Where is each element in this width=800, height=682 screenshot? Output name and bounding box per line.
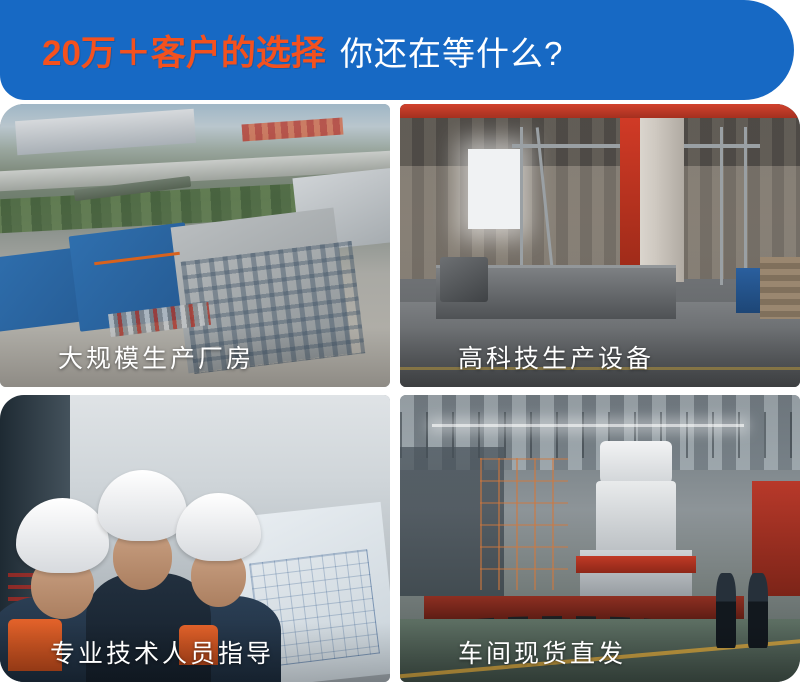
gallery-item-high-tech-equipment[interactable]: 高科技生产设备 xyxy=(400,104,800,387)
promo-banner-accent-text: 20万＋客户的选择 xyxy=(42,25,326,76)
gallery-caption-large-scale-workshop: 大规模生产厂房 xyxy=(0,327,390,387)
promo-banner-text: 20万＋客户的选择 你还在等什么? xyxy=(42,25,563,76)
gallery-item-technical-staff-guidance[interactable]: 专业技术人员指导 xyxy=(0,395,390,682)
gallery-caption-in-stock-direct-shipping: 车间现货直发 xyxy=(400,622,800,682)
gallery-caption-technical-staff-guidance: 专业技术人员指导 xyxy=(0,622,390,682)
promo-banner-main-text: 你还在等什么? xyxy=(340,27,563,75)
photo-gallery-grid: 大规模生产厂房 高科技生产设备 xyxy=(0,104,800,682)
gallery-item-in-stock-direct-shipping[interactable]: 车间现货直发 xyxy=(400,395,800,682)
promo-banner: 20万＋客户的选择 你还在等什么? xyxy=(0,0,794,100)
gallery-item-large-scale-workshop[interactable]: 大规模生产厂房 xyxy=(0,104,390,387)
gallery-caption-high-tech-equipment: 高科技生产设备 xyxy=(400,327,800,387)
